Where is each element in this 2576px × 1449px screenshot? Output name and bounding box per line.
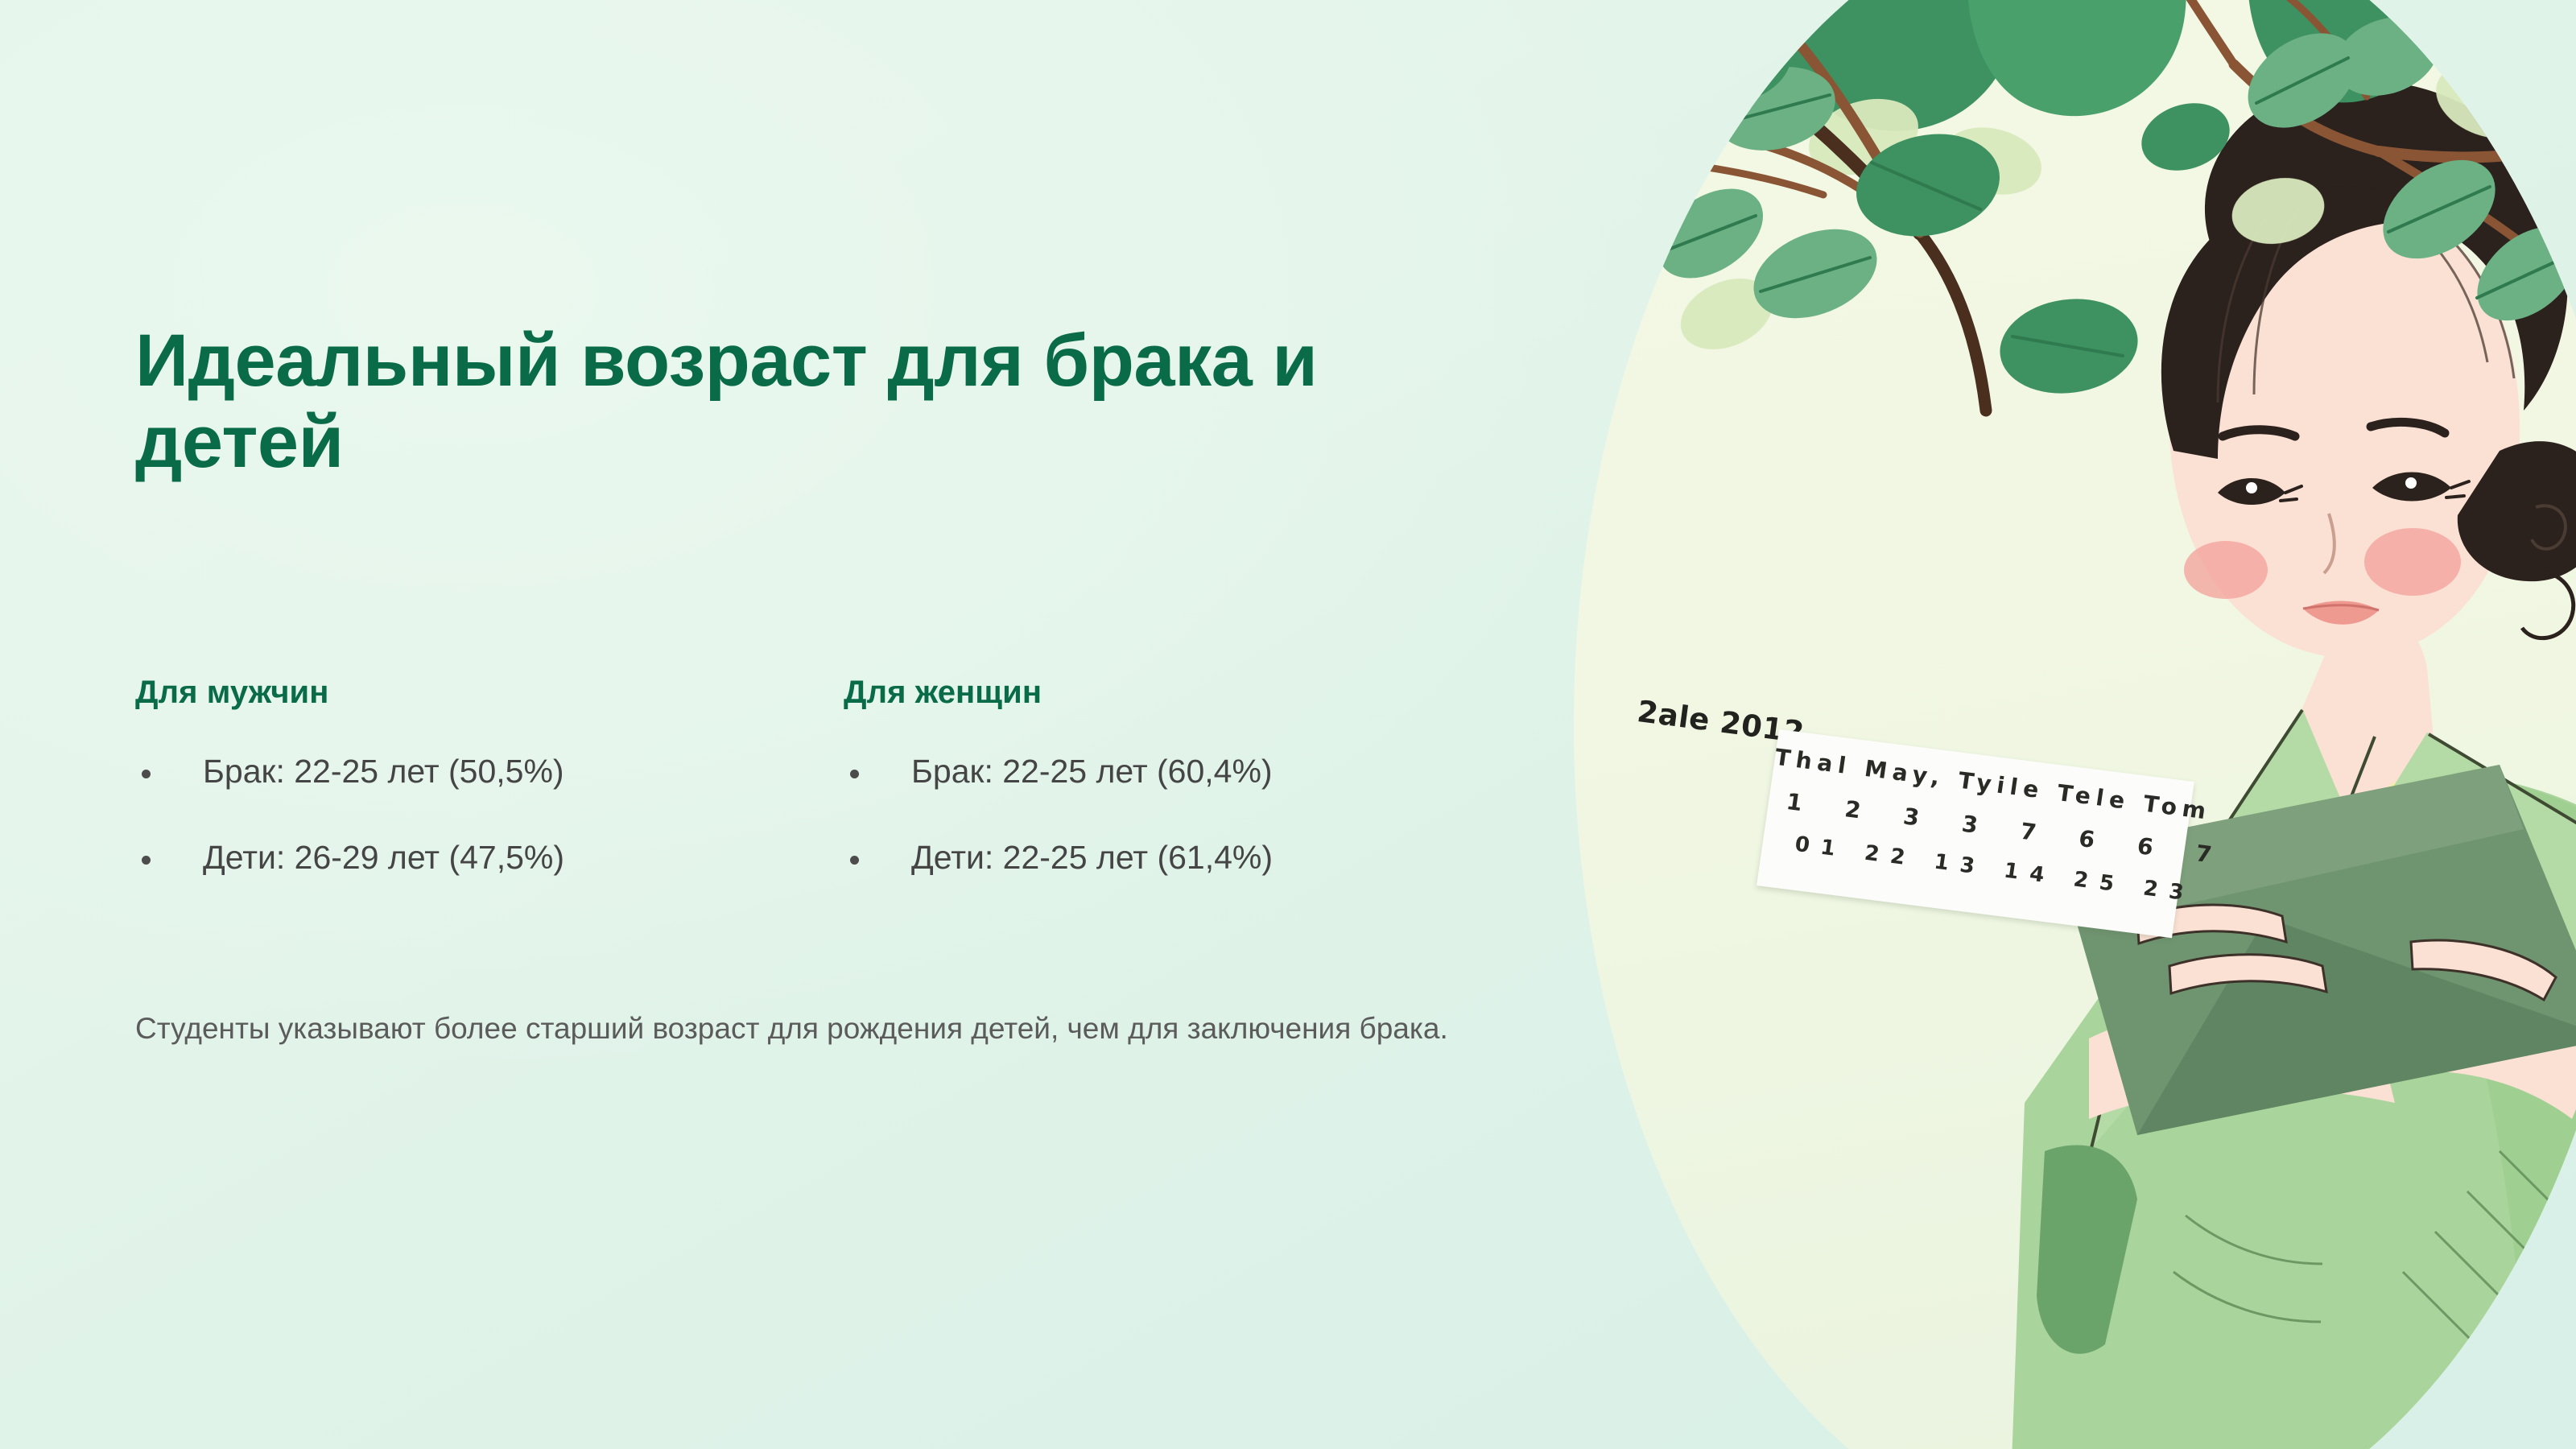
- bullet-dot-icon: [142, 856, 151, 865]
- footnote-text: Студенты указывают более старший возраст…: [135, 1005, 1455, 1053]
- page-title: Идеальный возраст для брака и детей: [135, 320, 1391, 483]
- list-item-label: Брак: 22-25 лет (50,5%): [203, 753, 564, 790]
- list-item: Брак: 22-25 лет (50,5%): [135, 752, 844, 791]
- list-item-label: Брак: 22-25 лет (60,4%): [911, 753, 1273, 790]
- column-heading-women: Для женщин: [844, 675, 1439, 710]
- columns-container: Для мужчин Брак: 22-25 лет (50,5%) Дети:…: [135, 675, 1439, 877]
- list-item-label: Дети: 26-29 лет (47,5%): [203, 839, 564, 876]
- list-item: Дети: 26-29 лет (47,5%): [135, 838, 844, 877]
- calendar-sheet: Thal May, Tyile Tele Tom 1 2 3 3 7 6 6 7…: [1757, 729, 2194, 938]
- slide-root: Идеальный возраст для брака и детей Для …: [0, 0, 2576, 1449]
- list-item-label: Дети: 22-25 лет (61,4%): [911, 839, 1273, 876]
- bullet-list-men: Брак: 22-25 лет (50,5%) Дети: 26-29 лет …: [135, 752, 844, 877]
- list-item: Дети: 22-25 лет (61,4%): [844, 838, 1439, 877]
- column-heading-men: Для мужчин: [135, 675, 844, 710]
- bullet-dot-icon: [850, 856, 859, 865]
- list-item: Брак: 22-25 лет (60,4%): [844, 752, 1439, 791]
- column-women: Для женщин Брак: 22-25 лет (60,4%) Дети:…: [844, 675, 1439, 877]
- illustration-panel: 2ale 2012 Thal May, Tyile Tele Tom 1 2 3…: [1574, 0, 2576, 1449]
- calendar-page: 2ale 2012 Thal May, Tyile Tele Tom 1 2 3…: [1606, 644, 2330, 1095]
- foliage-canopy-icon: [1574, 0, 2576, 459]
- slide-content: Идеальный возраст для брака и детей Для …: [135, 0, 1439, 1449]
- bullet-dot-icon: [850, 770, 859, 778]
- column-men: Для мужчин Брак: 22-25 лет (50,5%) Дети:…: [135, 675, 844, 877]
- bullet-dot-icon: [142, 770, 151, 778]
- bullet-list-women: Брак: 22-25 лет (60,4%) Дети: 22-25 лет …: [844, 752, 1439, 877]
